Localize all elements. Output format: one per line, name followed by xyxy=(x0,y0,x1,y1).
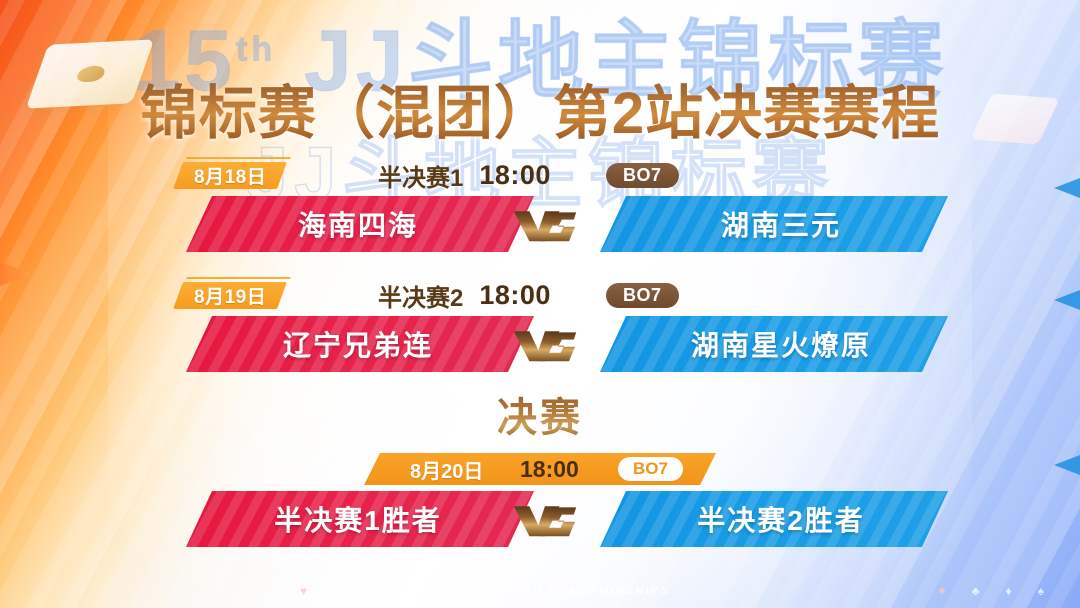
spade-icon: ♠ xyxy=(365,584,371,598)
finals-format-badge: BO7 xyxy=(618,457,683,481)
match-1-round: 半决赛1 xyxy=(378,158,463,193)
match-2-team-blue-name: 湖南星火燎原 xyxy=(691,324,871,364)
poster-stage: 15th JJ斗地主锦标赛 JJ斗地主锦标赛 锦标赛（混团）第2站决赛赛程 8月… xyxy=(0,0,1080,608)
vs-logo-icon-2 xyxy=(506,322,584,368)
diamond-icon-right: ♦ xyxy=(1006,584,1012,598)
match-1-team-blue-name: 湖南三元 xyxy=(721,204,841,244)
footer-suits-right: ♥ ♣ ♦ ♠ xyxy=(939,584,1045,598)
match-1-date: 8月18日 xyxy=(194,162,266,189)
match-2-team-red-name: 辽宁兄弟连 xyxy=(283,324,433,364)
finals-info-bar: 8月20日 18:00 BO7 xyxy=(364,453,716,485)
finals-team-blue: 半决赛2胜者 xyxy=(600,491,948,547)
match-2-format-badge: BO7 xyxy=(606,283,679,308)
finals-heading: 决赛 xyxy=(0,385,1080,443)
finals-time: 18:00 xyxy=(520,456,579,483)
match-2-team-blue: 湖南星火燎原 xyxy=(600,316,948,372)
club-icon: ♣ xyxy=(398,584,406,598)
heart-icon-right: ♥ xyxy=(939,584,946,598)
finals-team-red: 半决赛1胜者 xyxy=(186,491,534,547)
finals-date: 8月20日 xyxy=(410,455,483,484)
match-2-teams: 辽宁兄弟连 湖南星火燎原 xyxy=(0,316,1080,374)
match-1-format-badge: BO7 xyxy=(606,163,679,188)
match-1-round-label: 半决赛1 18:00 xyxy=(378,160,551,191)
club-icon-right: ♣ xyxy=(972,584,980,598)
finals-row: 决赛 8月20日 18:00 BO7 半决赛1胜者 半决赛2胜者 xyxy=(0,385,1080,549)
match-row-2: 8月19日 半决赛2 18:00 BO7 辽宁兄弟连 湖南星火燎原 xyxy=(0,280,1080,374)
match-2-round: 半决赛2 xyxy=(378,278,463,313)
page-title: 锦标赛（混团）第2站决赛赛程 xyxy=(0,66,1080,150)
vs-logo-icon-3 xyxy=(506,497,584,543)
match-1-team-blue: 湖南三元 xyxy=(600,196,948,252)
diamond-icon: ♦ xyxy=(333,584,339,598)
finals-team-blue-name: 半决赛2胜者 xyxy=(697,499,865,539)
finals-teams: 半决赛1胜者 半决赛2胜者 xyxy=(0,491,1080,549)
finals-team-red-name: 半决赛1胜者 xyxy=(274,499,442,539)
match-2-date-badge: 8月19日 xyxy=(173,282,287,309)
match-1-date-badge: 8月18日 xyxy=(173,162,287,189)
match-2-team-red: 辽宁兄弟连 xyxy=(186,316,534,372)
vs-logo-icon-1 xyxy=(506,202,584,248)
watermark-ordinal: th xyxy=(236,30,276,68)
match-2-date: 8月19日 xyxy=(194,282,266,309)
match-1-teams: 海南四海 湖南三元 xyxy=(0,196,1080,254)
finals-meta: 8月20日 18:00 BO7 xyxy=(0,449,1080,489)
footer-text: 15TH JJDOUDIZHU CHAMPIONSHIPS xyxy=(410,585,670,597)
match-2-round-label: 半决赛2 18:00 xyxy=(378,280,551,311)
match-1-team-red-name: 海南四海 xyxy=(298,204,418,244)
footer: ♥ ♦ ♠ ♣ 15TH JJDOUDIZHU CHAMPIONSHIPS ♥ … xyxy=(0,574,1080,608)
match-2-time: 18:00 xyxy=(479,280,551,311)
match-2-meta: 8月19日 半决赛2 18:00 BO7 xyxy=(0,280,1080,314)
heart-icon: ♥ xyxy=(300,584,307,598)
match-row-1: 8月18日 半决赛1 18:00 BO7 海南四海 xyxy=(0,160,1080,254)
match-1-time: 18:00 xyxy=(479,160,551,191)
footer-suits-left: ♥ ♦ ♠ ♣ xyxy=(300,584,406,598)
match-1-meta: 8月18日 半决赛1 18:00 BO7 xyxy=(0,160,1080,194)
match-1-team-red: 海南四海 xyxy=(186,196,534,252)
spade-icon-right: ♠ xyxy=(1038,584,1044,598)
